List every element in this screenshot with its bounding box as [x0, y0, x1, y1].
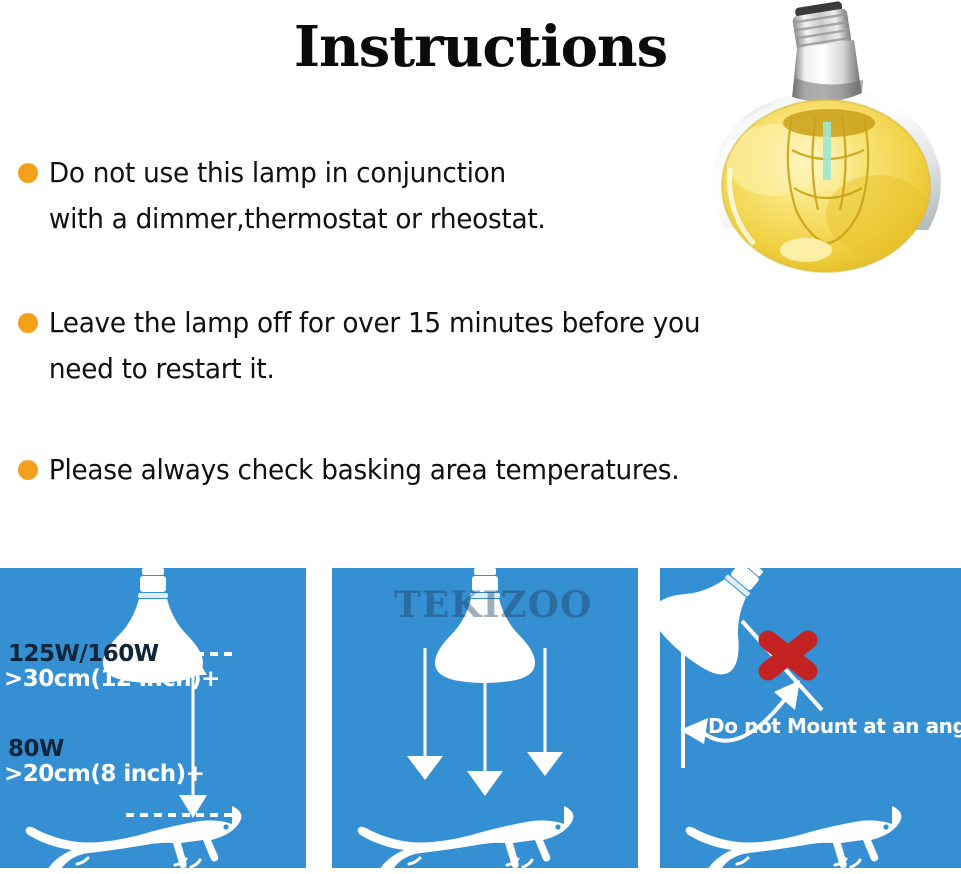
- list-item-line: Do not use this lamp in conjunction: [0, 150, 658, 196]
- list-item-line: need to restart it.: [0, 346, 884, 392]
- list-item-line: Please always check basking area tempera…: [0, 447, 884, 493]
- diagram-panels: 125W/160W >30cm(12 inch)+ 80W >20cm(8 in…: [0, 568, 961, 868]
- distance-label-low: >20cm(8 inch)+: [4, 761, 204, 787]
- heat-rays-panel: TEKIZOO: [332, 568, 638, 868]
- no-angle-caption: Do not Mount at an angle: [708, 714, 961, 738]
- distance-panel: 125W/160W >30cm(12 inch)+ 80W >20cm(8 in…: [0, 568, 306, 868]
- brand-watermark: TEKIZOO: [394, 584, 592, 626]
- list-item-line: with a dimmer,thermostat or rheostat.: [0, 196, 658, 242]
- heat-lamp-bulb-photo: [696, 0, 958, 282]
- wattage-label-low: 80W: [8, 736, 64, 762]
- distance-label-high: >30cm(12 inch)+: [4, 666, 220, 692]
- instructions-page: Instructions: [0, 0, 961, 874]
- no-angle-panel: Do not Mount at an angle: [660, 568, 961, 868]
- list-item: Do not use this lamp in conjunction with…: [0, 150, 700, 242]
- wattage-label-high: 125W/160W: [8, 641, 159, 667]
- list-item: Please always check basking area tempera…: [0, 447, 940, 493]
- list-item-line: Leave the lamp off for over 15 minutes b…: [0, 300, 884, 346]
- list-item: Leave the lamp off for over 15 minutes b…: [0, 300, 940, 392]
- bulb-above-lizard-with-distance-arrow-icon: [0, 568, 306, 868]
